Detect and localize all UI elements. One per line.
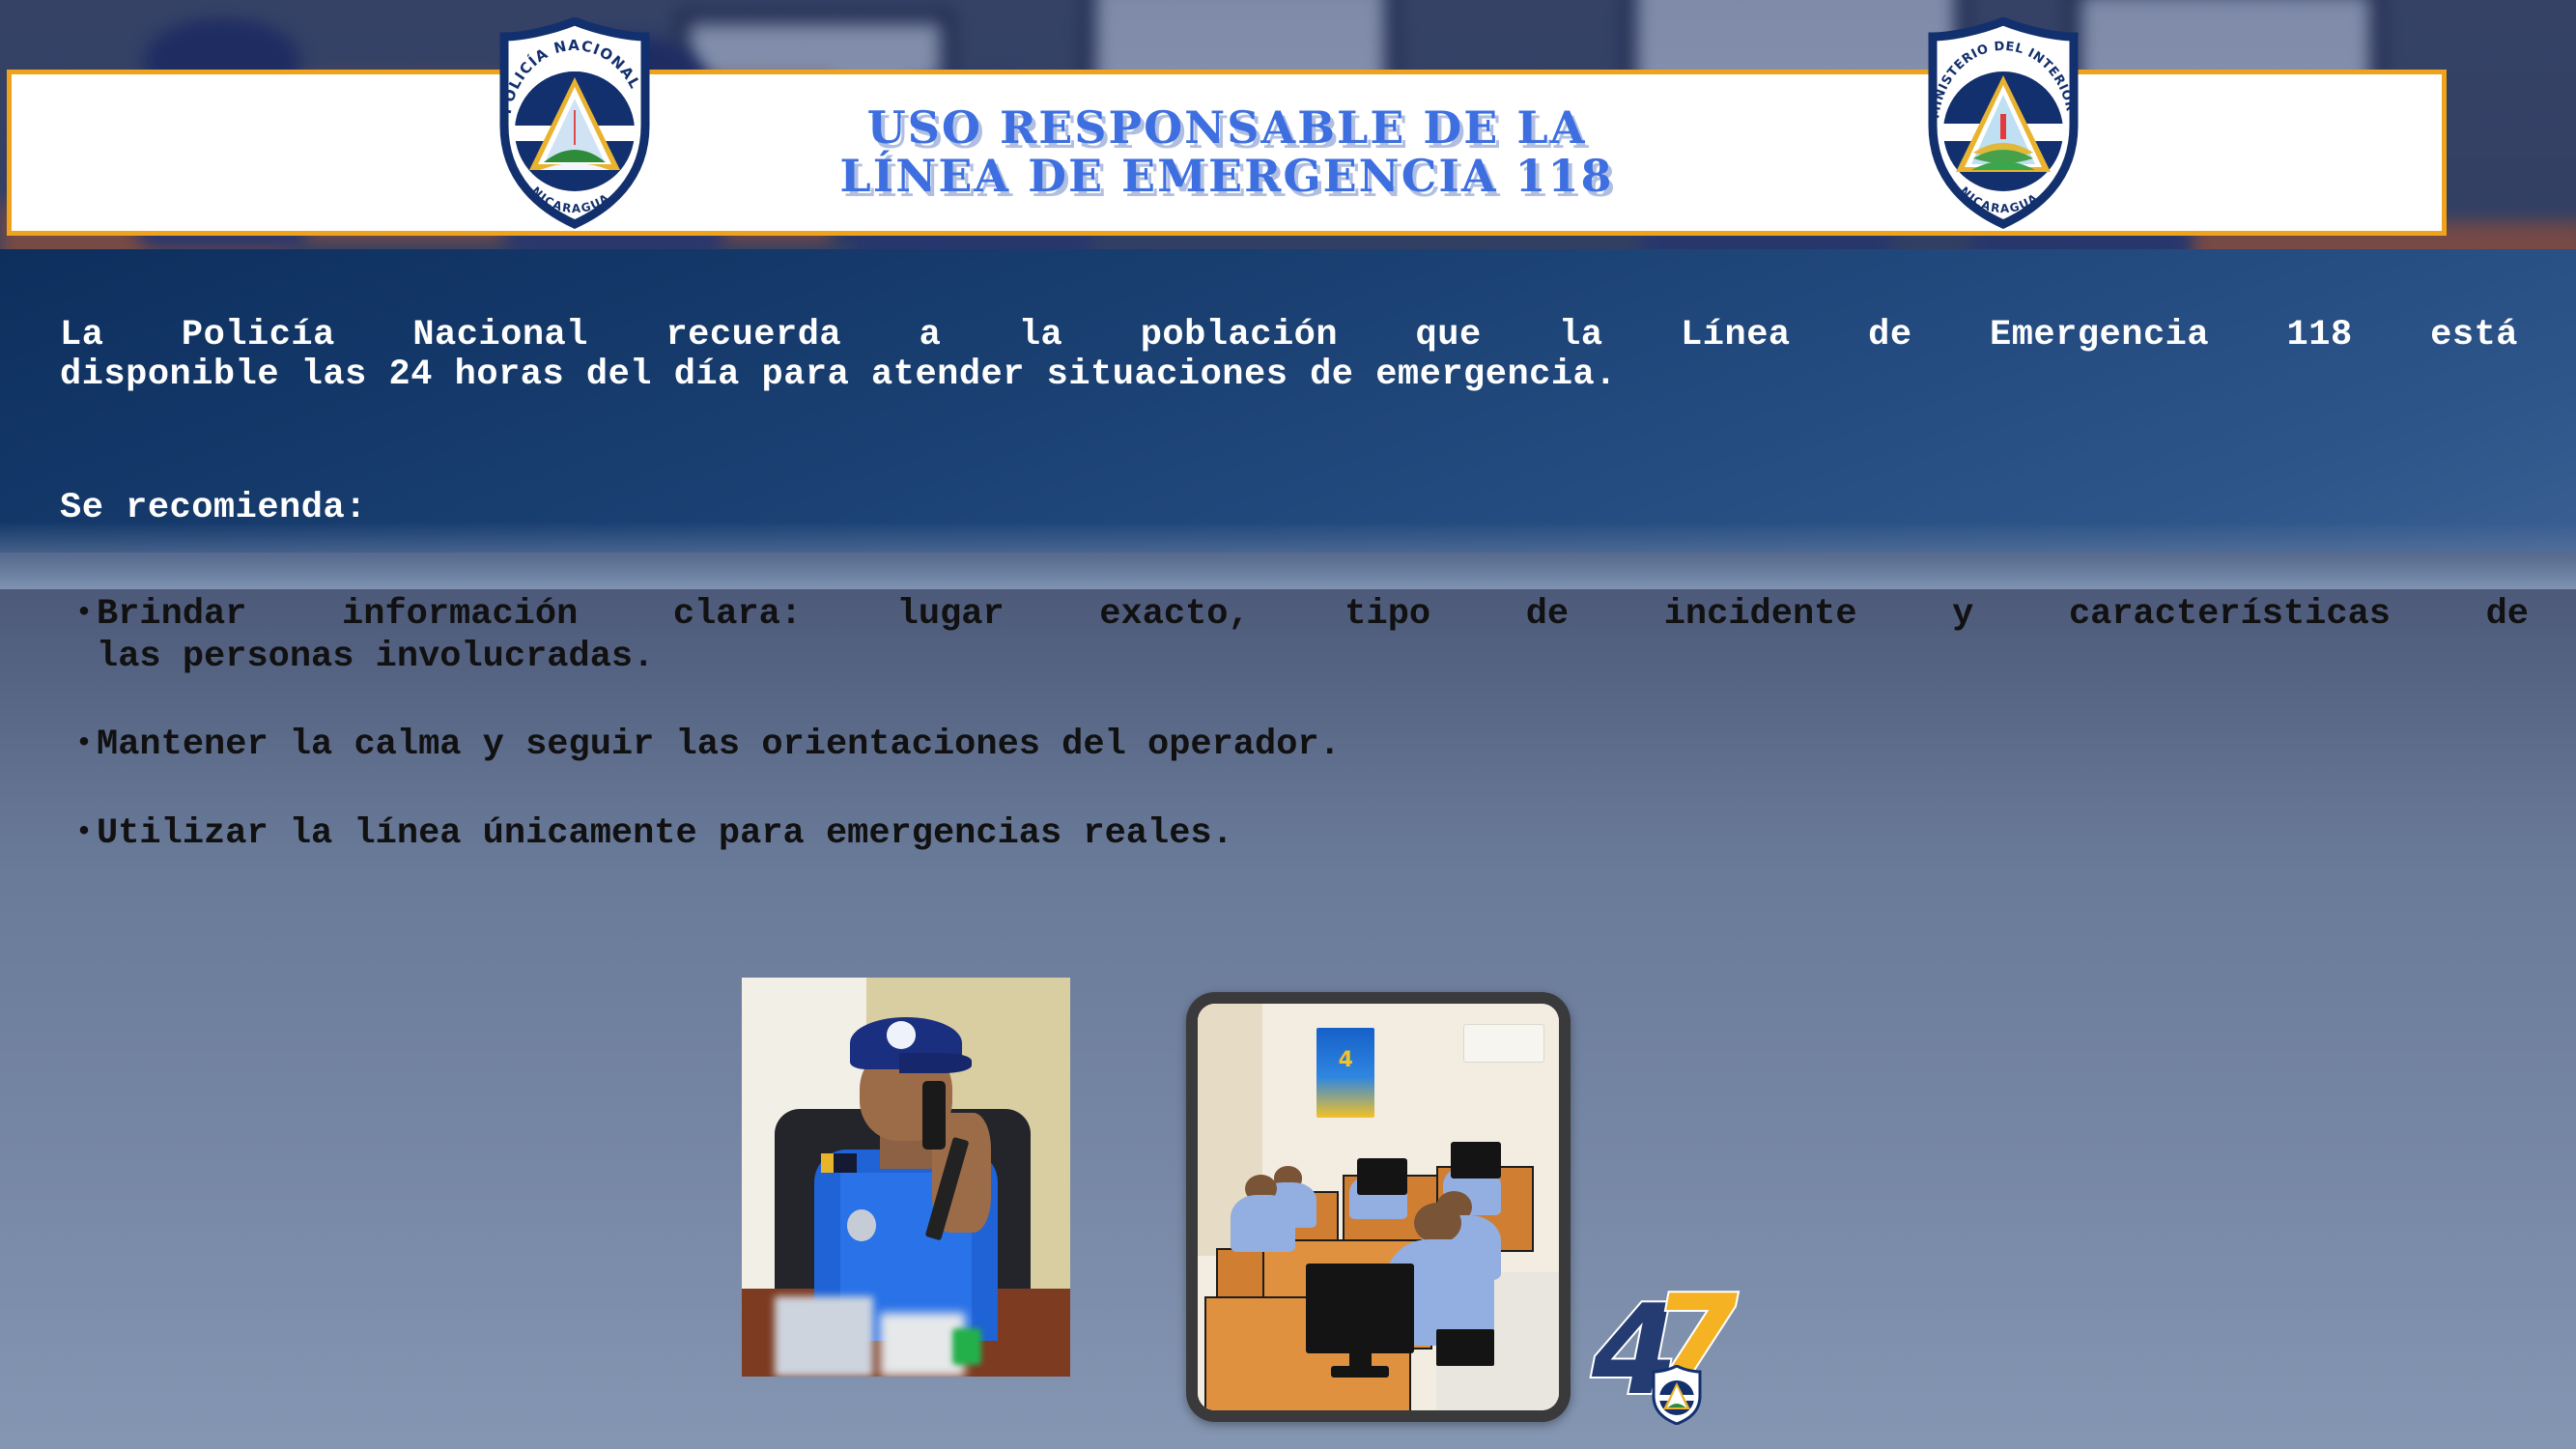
photo-telephone [1436, 1329, 1494, 1366]
photo-monitor-foreground [1306, 1264, 1414, 1353]
photo-officer-epaulet-gold [821, 1153, 835, 1174]
bullet-dot-icon: • [75, 813, 93, 853]
list-item-text: Brindar información clara: lugar exacto,… [97, 594, 2529, 678]
emergency-call-center-photo-frame: 4 [1186, 992, 1571, 1422]
bullet-dot-icon: • [75, 594, 93, 634]
photo-monitor-base [1331, 1366, 1389, 1378]
logo-police-shield-icon [1650, 1365, 1704, 1425]
photo-telephone-handset [922, 1081, 946, 1149]
emergency-call-center-photo: 4 [1198, 1004, 1559, 1410]
ministerio-del-interior-crest: MINISTERIO DEL INTERIOR NICARAGUA [1911, 17, 2095, 230]
list-item-text: Utilizar la línea únicamente para emerge… [97, 813, 2529, 856]
47-anniversary-logo: 4 7 [1592, 1290, 1756, 1425]
photo-foreground-blur [775, 1296, 873, 1377]
photo-officer-cap-brim [899, 1053, 972, 1073]
list-item: • Mantener la calma y seguir las orienta… [75, 724, 2529, 767]
list-item-line-2: las personas involucradas. [97, 637, 2529, 679]
photo-47-poster: 4 [1316, 1028, 1374, 1118]
photo-air-conditioner [1463, 1024, 1544, 1063]
list-item: • Utilizar la línea únicamente para emer… [75, 813, 2529, 856]
list-item: • Brindar información clara: lugar exact… [75, 594, 2529, 678]
recommendation-list: • Brindar información clara: lugar exact… [75, 594, 2529, 902]
intro-band [0, 249, 2576, 553]
photo-monitor [1451, 1142, 1501, 1179]
policia-nacional-crest: POLICÍA NACIONAL NICARAGUA [483, 17, 666, 230]
photo-monitor [1357, 1158, 1407, 1195]
bullet-dot-icon: • [75, 724, 93, 764]
recommendation-label: Se recomienda: [60, 488, 367, 528]
photo-foreground-blur [952, 1328, 982, 1364]
intro-band-fade [0, 522, 2576, 589]
intro-line-2: disponible las 24 horas del día para ate… [60, 355, 2518, 395]
police-officer-on-phone-photo [742, 978, 1070, 1377]
photo-officer-badge [847, 1209, 877, 1241]
photo-poster-47-text: 4 [1316, 1048, 1374, 1072]
list-item-text: Mantener la calma y seguir las orientaci… [97, 724, 2529, 767]
intro-line-1: La Policía Nacional recuerda a la poblac… [60, 316, 2518, 355]
page-title: USO RESPONSABLE DE LA LÍNEA DE EMERGENCI… [839, 104, 1613, 200]
intro-paragraph: La Policía Nacional recuerda a la poblac… [60, 316, 2518, 396]
list-item-line-1: Brindar información clara: lugar exacto,… [97, 594, 2529, 637]
photo-operator [1231, 1195, 1295, 1252]
